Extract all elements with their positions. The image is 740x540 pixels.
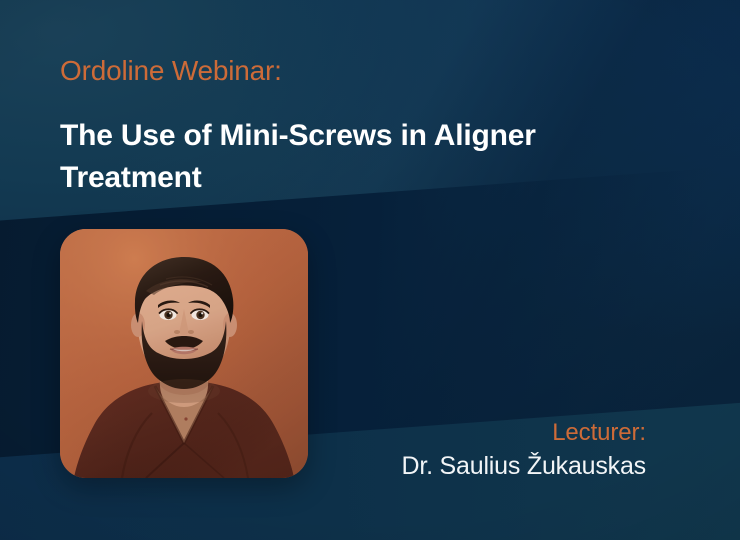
page-title: The Use of Mini-Screws in Aligner Treatm… [60,115,620,199]
lecturer-label: Lecturer: [401,418,646,448]
lecturer-portrait-card [60,229,308,478]
lecturer-credit: Lecturer: Dr. Saulius Žukauskas [401,418,646,482]
webinar-eyebrow-label: Ordoline Webinar: [60,54,282,88]
lecturer-portrait-photo [60,229,308,478]
lecturer-name: Dr. Saulius Žukauskas [401,450,646,482]
webinar-promo-slide: Ordoline Webinar: The Use of Mini-Screws… [0,0,740,540]
